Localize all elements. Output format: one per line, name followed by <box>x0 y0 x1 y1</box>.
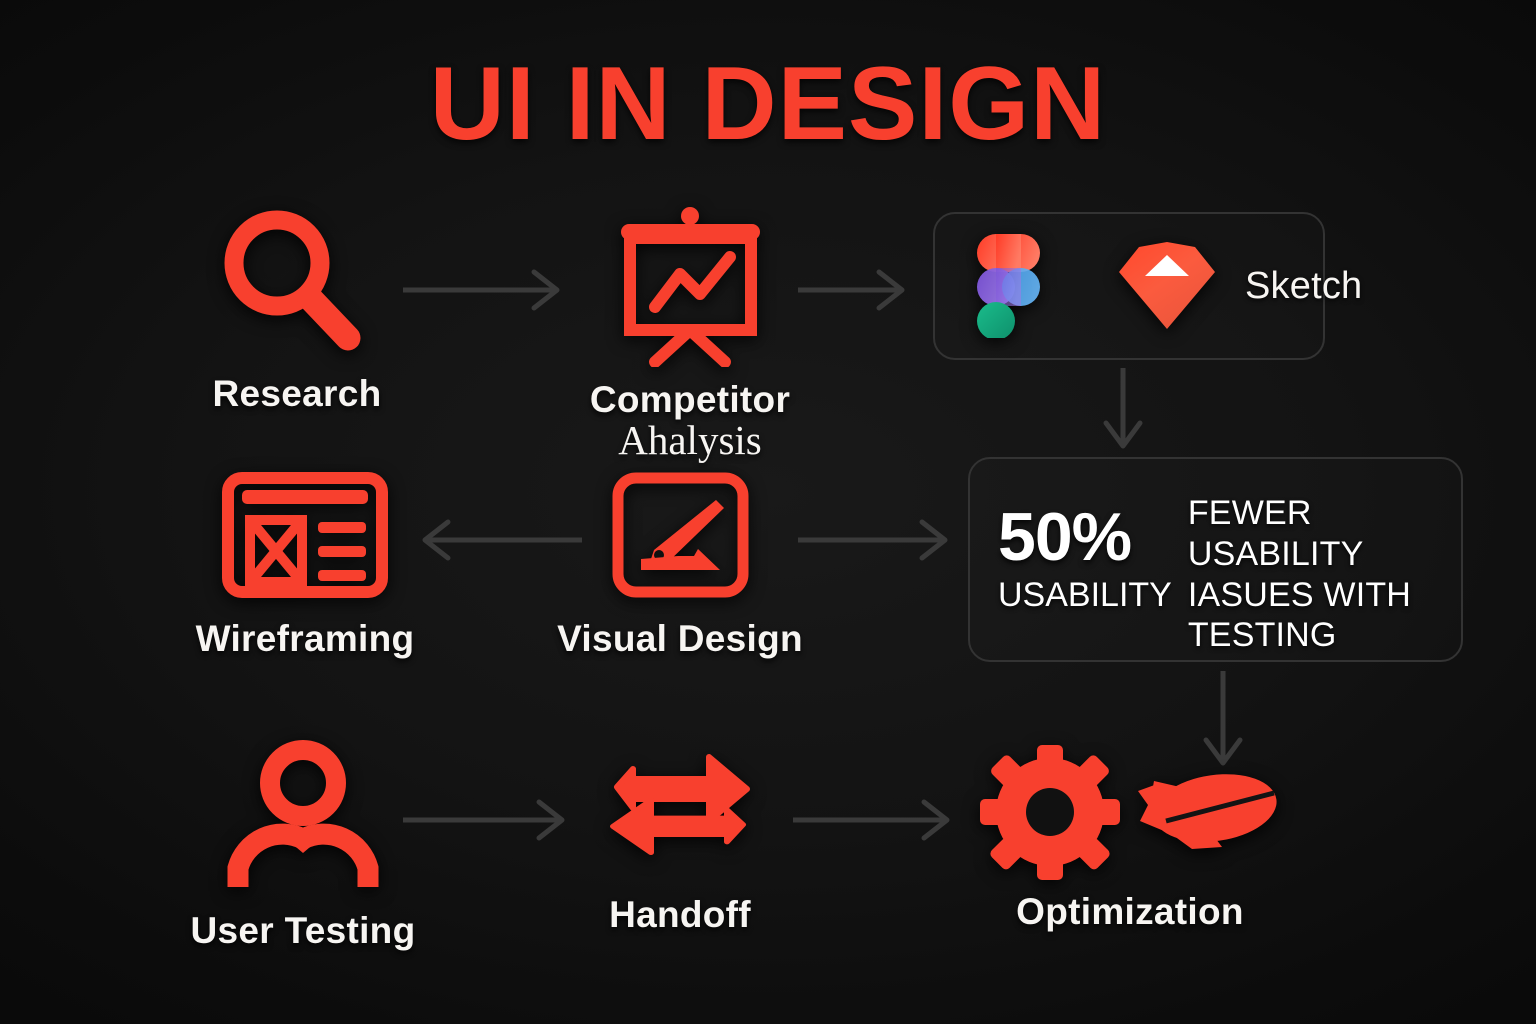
node-label-research: Research <box>212 374 381 415</box>
node-label-handoff: Handoff <box>609 895 751 936</box>
node-wireframing[interactable]: Wireframing <box>175 470 435 660</box>
node-label-competitor: Competitor <box>590 380 790 421</box>
page-title: UI IN DESIGN <box>0 52 1536 156</box>
node-user-testing[interactable]: User Testing <box>178 735 428 952</box>
node-research[interactable]: Research <box>182 205 412 415</box>
magnifier-icon <box>215 205 380 360</box>
node-label-user-testing: User Testing <box>191 911 416 952</box>
stat-subtitle: USABILITY <box>998 576 1172 615</box>
pen-square-icon <box>608 470 753 605</box>
stat-detail-line-2: USABILITY <box>1188 534 1411 575</box>
node-label-visual-design: Visual Design <box>557 619 803 660</box>
figma-icon[interactable] <box>975 234 1057 338</box>
gear-icon <box>980 745 1120 880</box>
stat-detail-text: FEWER USABILITY IASUES WITH TESTING <box>1188 493 1411 656</box>
stat-detail-line-1: FEWER <box>1188 493 1411 534</box>
stat-number: 50% <box>998 504 1131 571</box>
node-handoff[interactable]: Handoff <box>565 745 795 936</box>
stat-detail-line-3: IASUES WITH <box>1188 575 1411 616</box>
stat-detail-line-4: TESTING <box>1188 615 1411 656</box>
arrow-visual-to-stat <box>795 515 960 565</box>
user-icon <box>226 735 381 895</box>
node-label-wireframing: Wireframing <box>196 619 415 660</box>
stat-left-column: 50% USABILITY <box>998 504 1172 616</box>
arrow-tools-to-stat <box>1098 365 1148 460</box>
sketch-icon[interactable] <box>1117 239 1217 333</box>
node-optimization[interactable]: Optimization <box>975 745 1285 933</box>
node-label-analysis: Ahalysis <box>618 419 762 462</box>
swap-arrows-icon <box>605 745 755 875</box>
design-tools-panel[interactable]: Sketch <box>933 212 1325 360</box>
node-label-optimization: Optimization <box>1016 892 1244 933</box>
infographic-canvas: UI IN DESIGN <box>0 0 1536 1024</box>
sketch-label: Sketch <box>1245 265 1362 308</box>
arrow-handoff-to-optimization <box>790 795 965 845</box>
optimization-icons-group <box>980 745 1280 880</box>
arrow-research-to-competitor <box>400 265 575 315</box>
stat-panel: 50% USABILITY FEWER USABILITY IASUES WIT… <box>968 457 1463 662</box>
presentation-chart-icon <box>608 202 773 372</box>
rocket-icon <box>1130 753 1280 873</box>
node-competitor-analysis[interactable]: Competitor Ahalysis <box>550 202 830 462</box>
wireframe-icon <box>220 470 390 605</box>
node-visual-design[interactable]: Visual Design <box>545 470 815 660</box>
